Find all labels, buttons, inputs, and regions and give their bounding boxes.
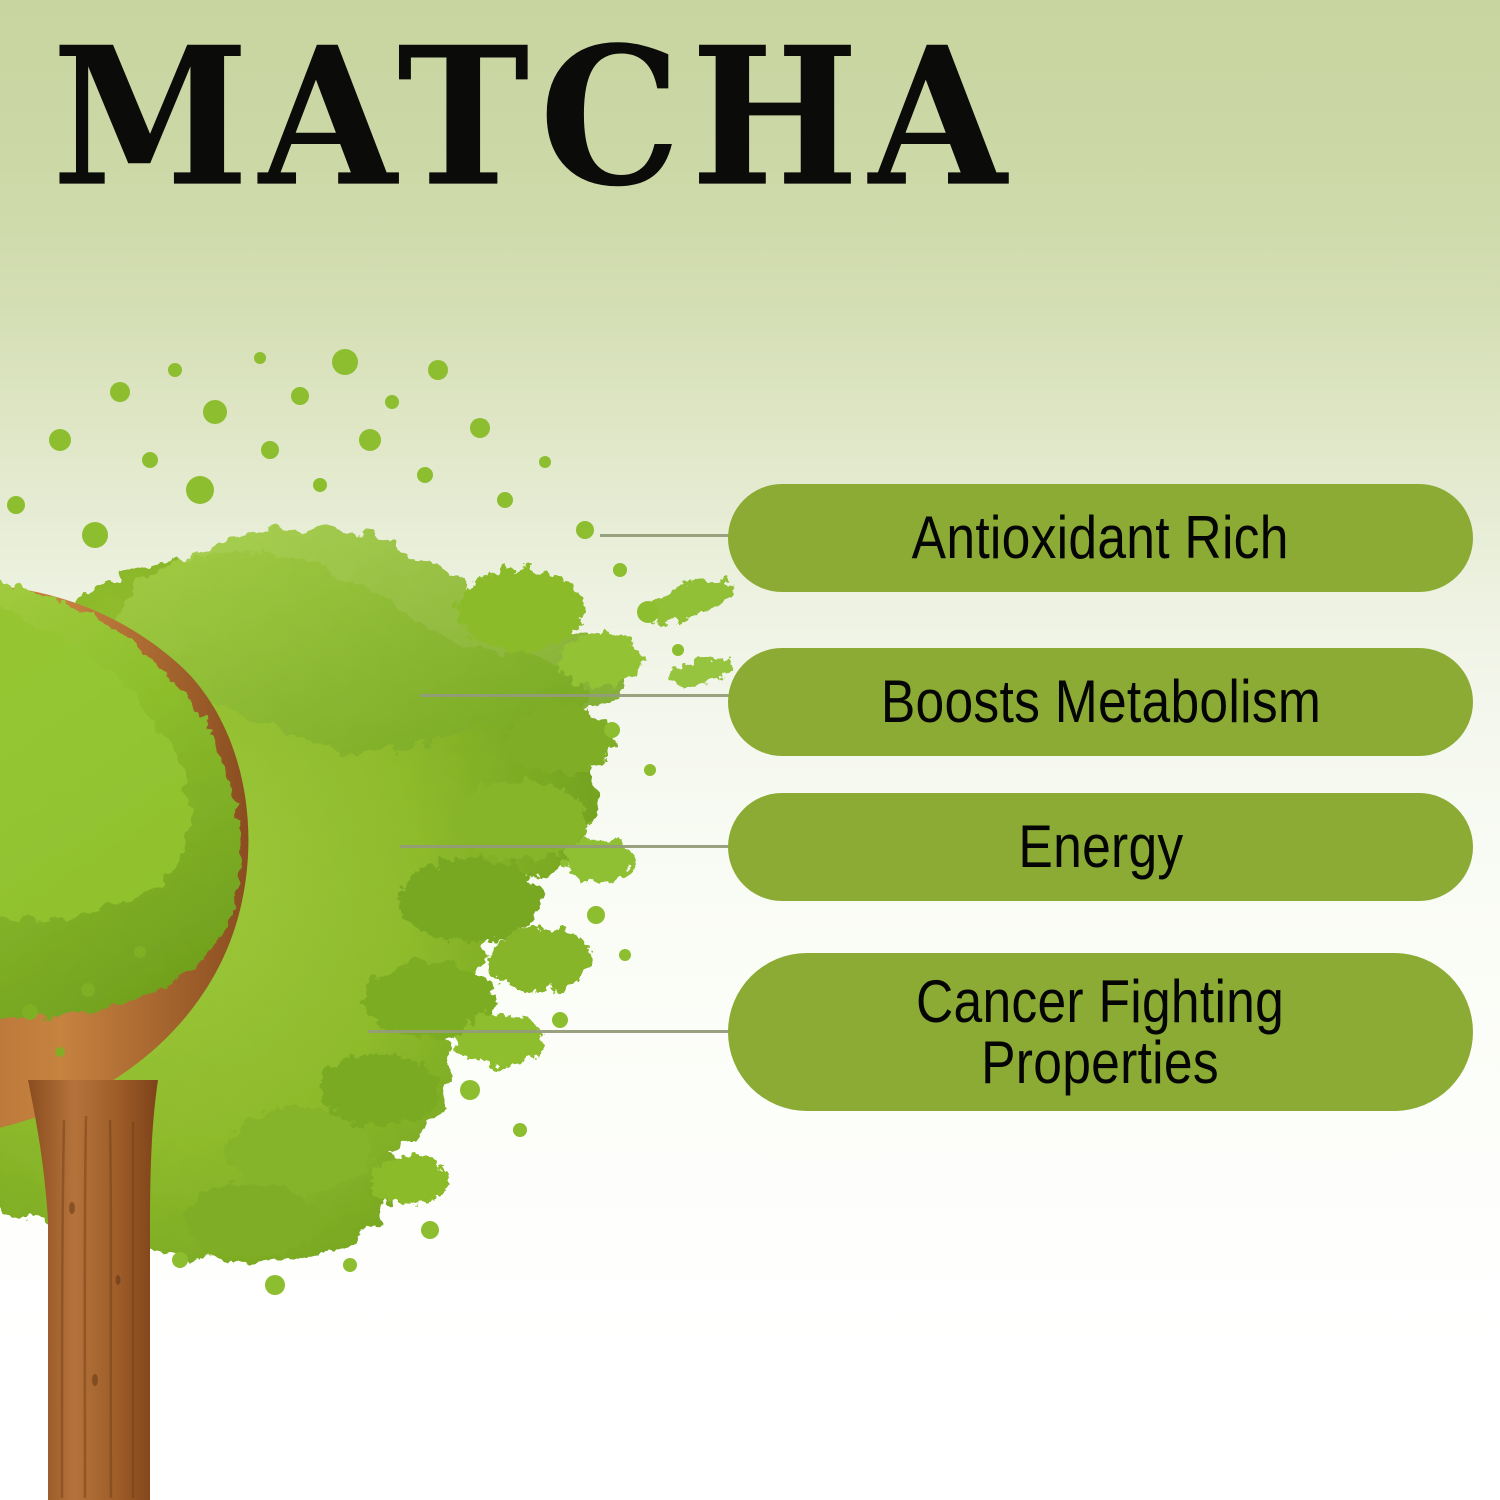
- matcha-infographic-poster: MATCHA Antioxidant Rich Boosts Metabolis…: [0, 0, 1500, 1500]
- benefit-label: Boosts Metabolism: [880, 672, 1320, 732]
- connector-line-boosts-metabolism: [420, 694, 742, 697]
- benefit-pill-cancer-fighting-properties[interactable]: Cancer Fighting Properties: [728, 953, 1473, 1111]
- connector-line-energy: [400, 845, 742, 848]
- benefit-label: Energy: [1018, 817, 1183, 877]
- benefit-label: Antioxidant Rich: [912, 508, 1289, 568]
- benefit-pill-boosts-metabolism[interactable]: Boosts Metabolism: [728, 648, 1473, 756]
- connector-line-antioxidant-rich: [600, 534, 742, 537]
- benefit-pill-energy[interactable]: Energy: [728, 793, 1473, 901]
- benefit-label: Cancer Fighting Properties: [916, 971, 1284, 1093]
- benefit-pill-antioxidant-rich[interactable]: Antioxidant Rich: [728, 484, 1473, 592]
- page-title: MATCHA: [52, 22, 1017, 212]
- connector-line-cancer-fighting-properties: [368, 1030, 742, 1033]
